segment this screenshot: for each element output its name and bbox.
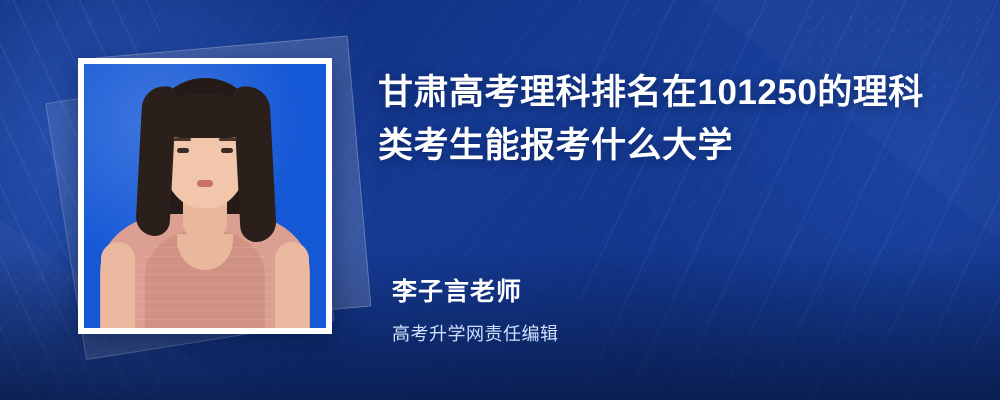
author-role: 高考升学网责任编辑 (392, 320, 952, 346)
portrait-eyebrow-left (173, 138, 191, 141)
headline-block: 甘肃高考理科排名在101250的理科类考生能报考什么大学 (378, 66, 958, 172)
portrait-eye-left (177, 148, 189, 153)
portrait-card-stack (58, 30, 358, 360)
portrait-eyebrow-right (219, 138, 237, 141)
portrait-eye-right (221, 148, 233, 153)
portrait-arm-right (275, 242, 309, 328)
page-title: 甘肃高考理科排名在101250的理科类考生能报考什么大学 (378, 66, 958, 172)
article-cover-banner: 甘肃高考理科排名在101250的理科类考生能报考什么大学 李子言老师 高考升学网… (0, 0, 1000, 400)
portrait-arm-left (101, 242, 135, 328)
portrait-photo-frame (78, 58, 332, 334)
author-name: 李子言老师 (392, 272, 952, 308)
portrait-fringe (157, 94, 253, 138)
byline-block: 李子言老师 高考升学网责任编辑 (392, 272, 952, 346)
teacher-portrait (84, 64, 326, 328)
portrait-lips (197, 180, 213, 187)
